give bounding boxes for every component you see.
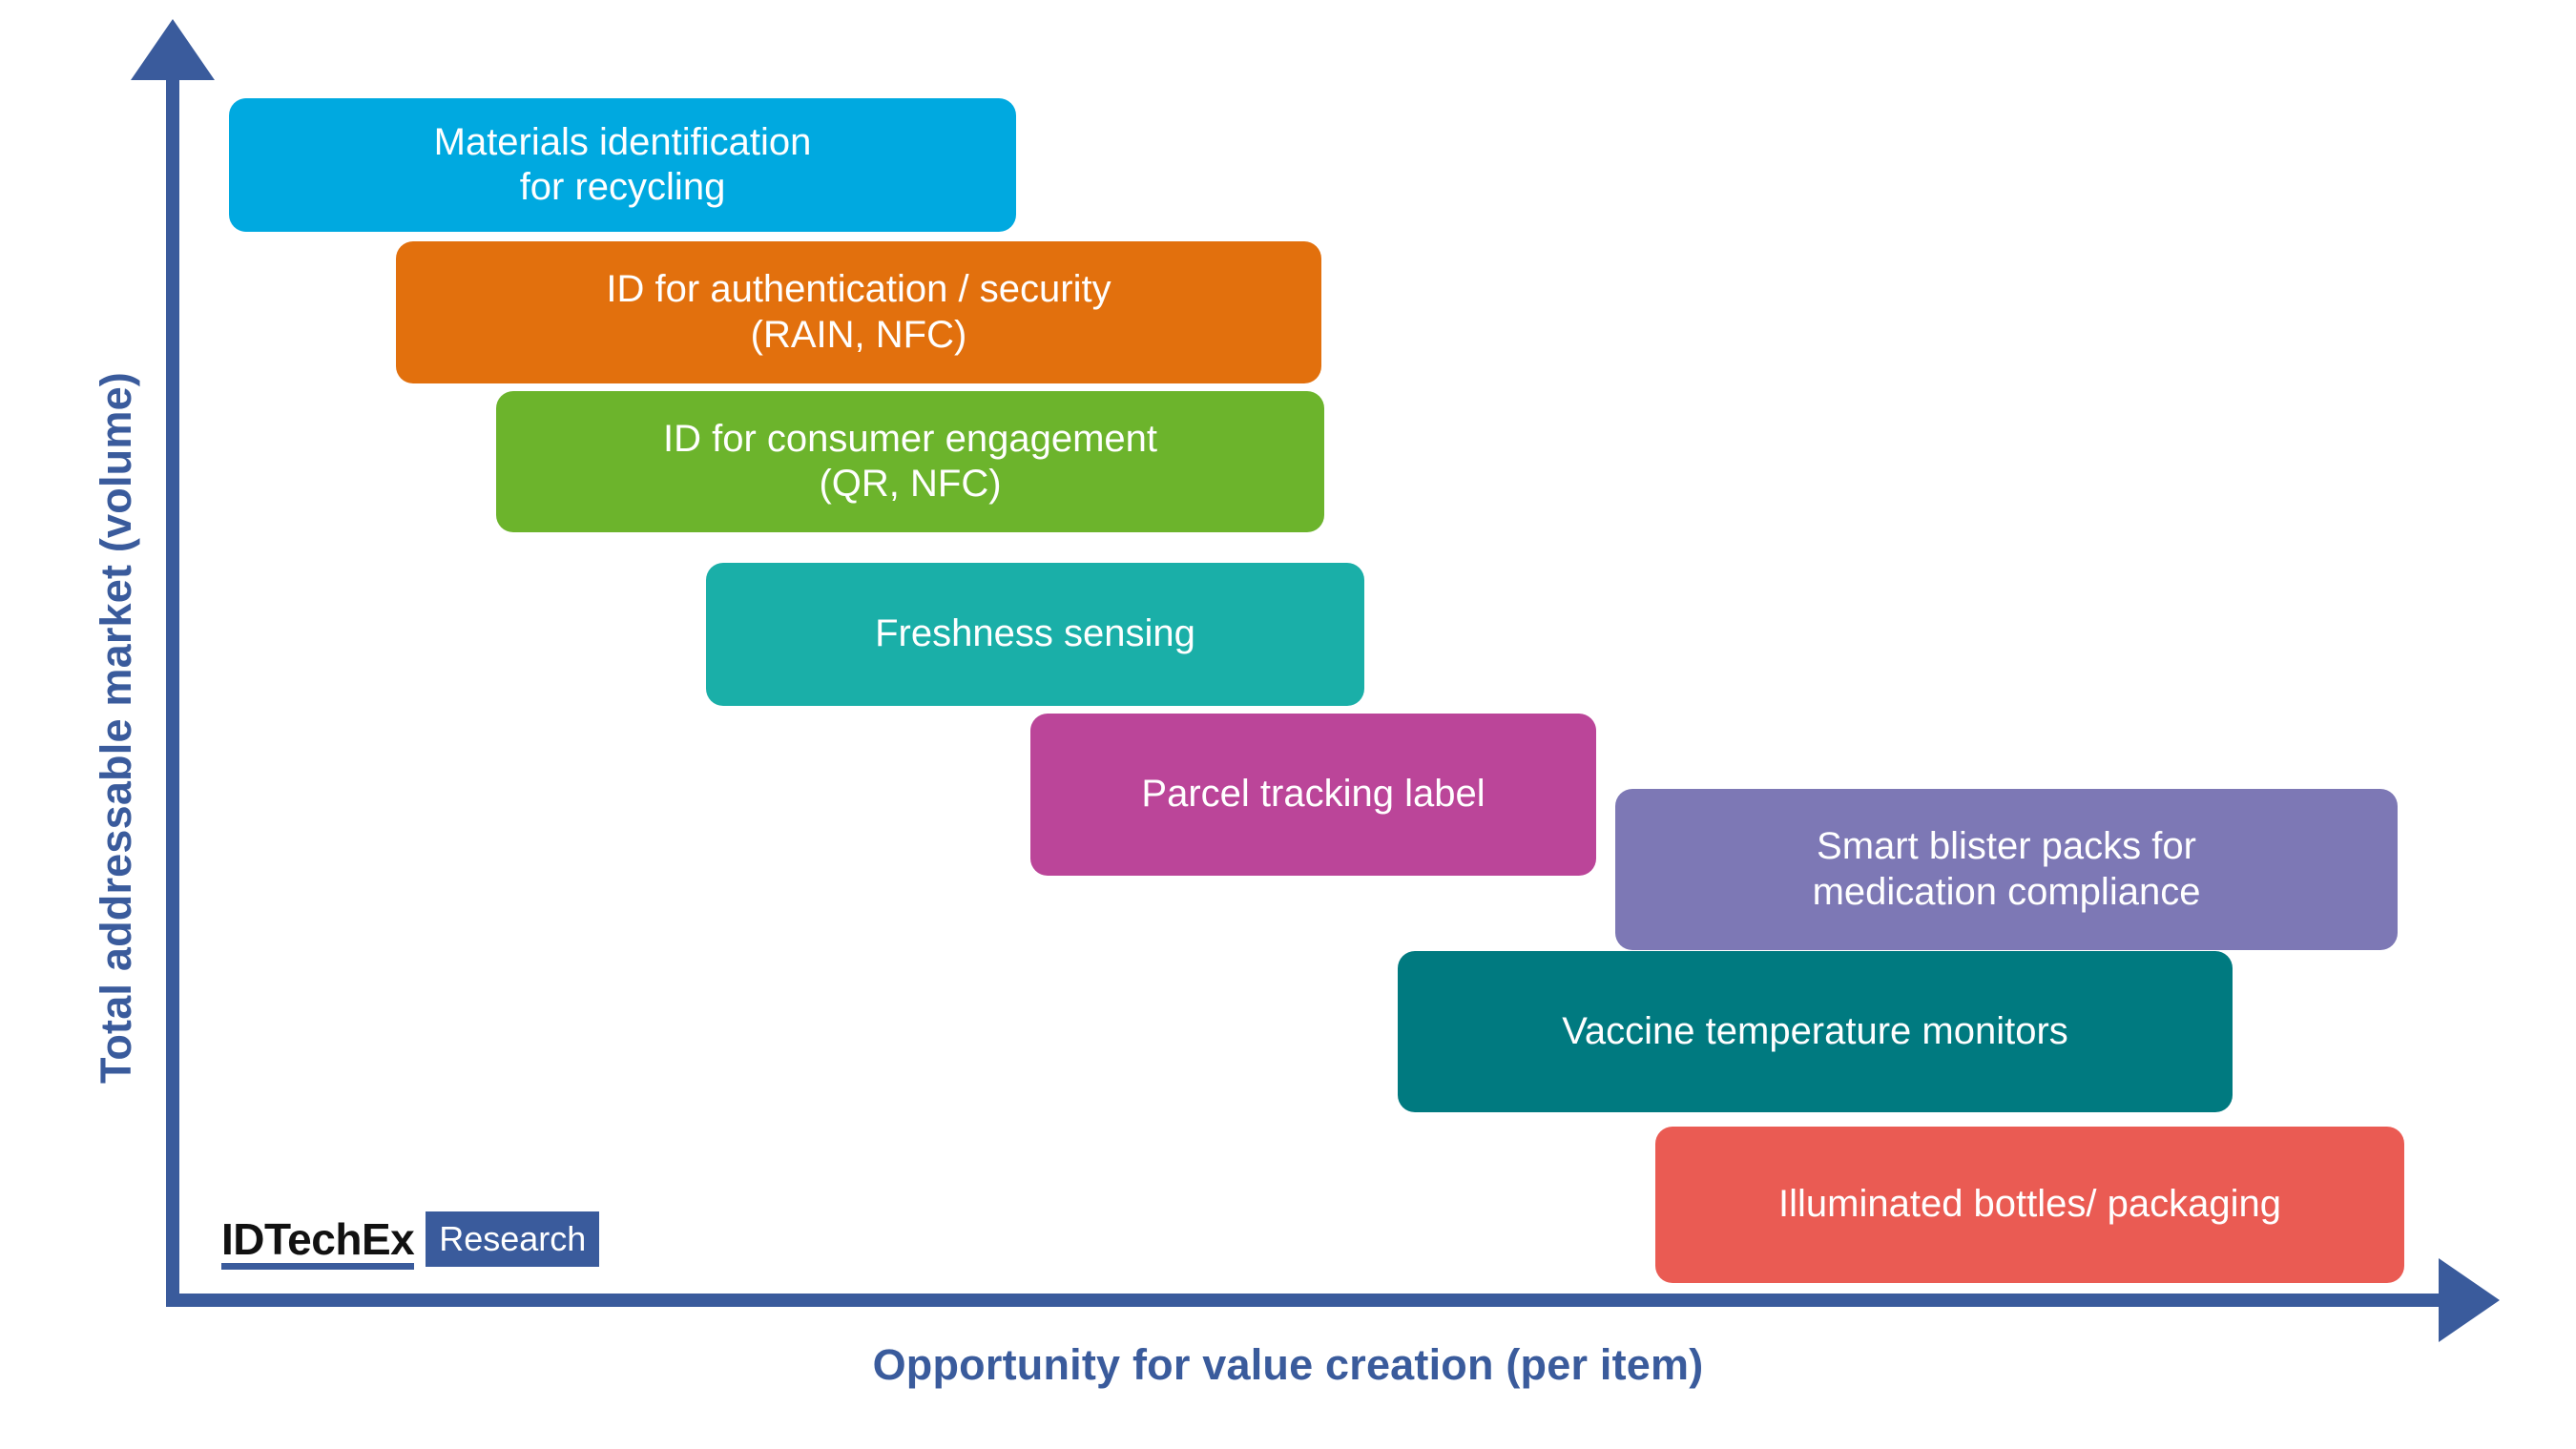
bar-parcel-tracking-label: Parcel tracking label — [1030, 714, 1596, 876]
bar-smart-blister-packs: Smart blister packs for medication compl… — [1615, 789, 2398, 950]
idtechex-research-logo: IDTechEx Research — [221, 1211, 599, 1267]
bar-vaccine-temperature-monitors: Vaccine temperature monitors — [1398, 951, 2233, 1112]
bar-label-id-for-consumer-engagement: ID for consumer engagement (QR, NFC) — [663, 417, 1157, 507]
logo-wordmark: IDTechEx — [221, 1211, 426, 1267]
logo-wordmark-text: IDTechEx — [221, 1217, 414, 1261]
bar-label-parcel-tracking-label: Parcel tracking label — [1141, 772, 1485, 817]
bar-label-smart-blister-packs: Smart blister packs for medication compl… — [1813, 824, 2201, 914]
y-axis-line — [166, 65, 179, 1307]
x-axis-arrowhead — [2439, 1258, 2500, 1342]
x-axis-title: Opportunity for value creation (per item… — [172, 1340, 2404, 1390]
bar-id-for-consumer-engagement: ID for consumer engagement (QR, NFC) — [496, 391, 1324, 532]
logo-research-badge-text: Research — [439, 1222, 586, 1256]
opportunity-matrix-chart: Total addressable market (volume) Opport… — [0, 0, 2576, 1449]
logo-research-badge: Research — [426, 1211, 599, 1267]
bar-id-for-authentication-security: ID for authentication / security (RAIN, … — [396, 241, 1321, 383]
y-axis-arrowhead — [131, 19, 215, 80]
bar-label-id-for-authentication-security: ID for authentication / security (RAIN, … — [606, 267, 1111, 357]
bar-materials-identification-for-recycling: Materials identification for recycling — [229, 98, 1016, 232]
bar-label-vaccine-temperature-monitors: Vaccine temperature monitors — [1562, 1009, 2068, 1054]
y-axis-title: Total addressable market (volume) — [92, 251, 141, 1205]
bar-label-illuminated-bottles-packaging: Illuminated bottles/ packaging — [1778, 1182, 2281, 1227]
bar-freshness-sensing: Freshness sensing — [706, 563, 1364, 706]
bar-illuminated-bottles-packaging: Illuminated bottles/ packaging — [1655, 1127, 2404, 1283]
logo-underline-rule — [221, 1263, 414, 1270]
x-axis-line — [166, 1294, 2450, 1307]
bar-label-freshness-sensing: Freshness sensing — [875, 611, 1195, 656]
bar-label-materials-identification-for-recycling: Materials identification for recycling — [434, 120, 812, 210]
